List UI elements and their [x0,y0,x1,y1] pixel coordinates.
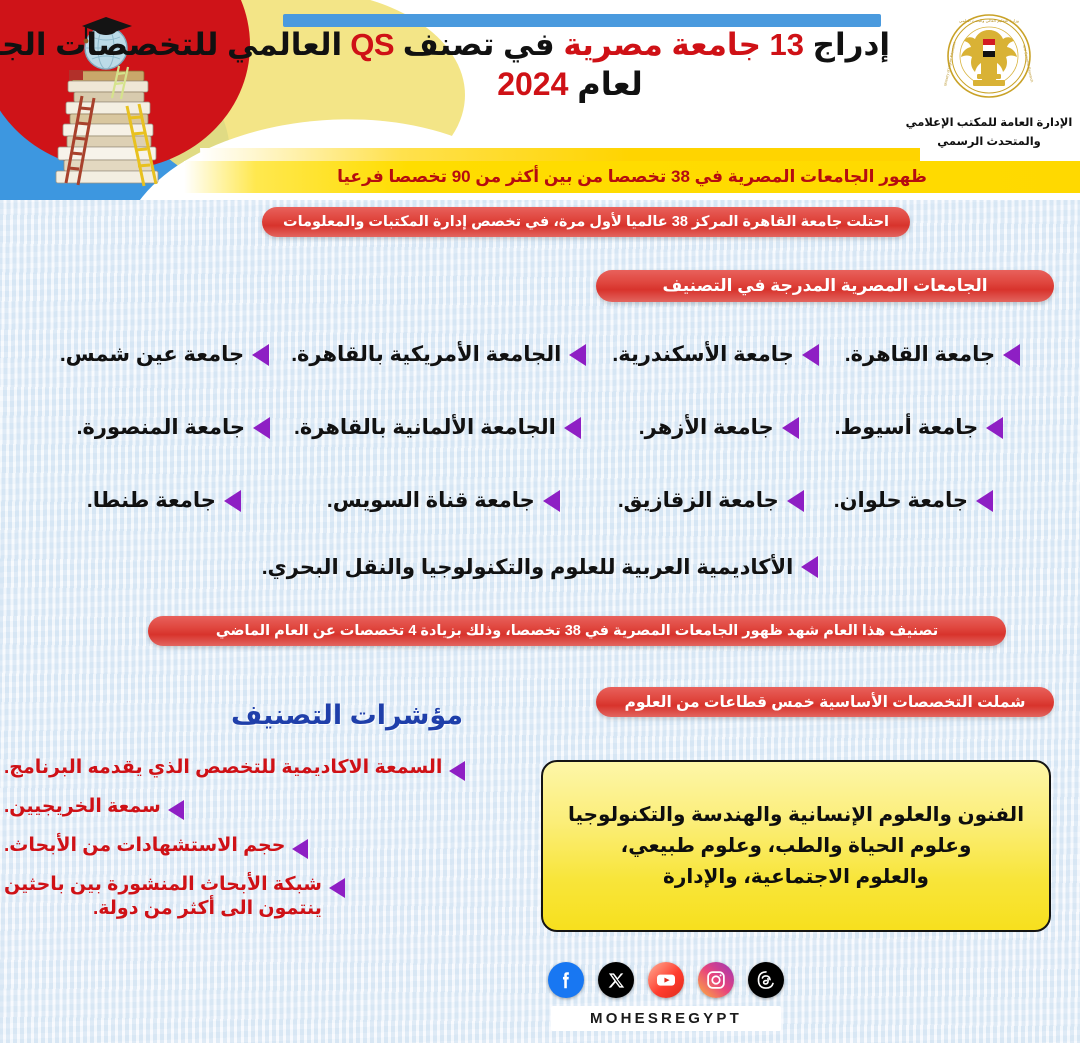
listed-universities-heading-text: الجامعات المصرية المدرجة في التصنيف [662,276,987,296]
triangle-bullet-icon [802,344,819,366]
university-name: جامعة الأزهر. [639,415,774,440]
subject-areas-line-2: وعلوم الحياة والطب، وعلوم طبيعي، [621,831,972,862]
university-name: جامعة أسيوط. [835,415,979,440]
triangle-bullet-icon [449,761,465,781]
list-item: جامعة عين شمس. [60,342,269,367]
social-handle-badge: MOHESREGYPT [551,1006,781,1031]
specialization-increase-pill: تصنيف هذا العام شهد ظهور الجامعات المصري… [148,616,1006,646]
triangle-bullet-icon [1003,344,1020,366]
infographic-canvas: إدراج 13 جامعة مصرية في تصنف QS العالمي … [0,0,1080,1043]
x-twitter-icon[interactable] [598,962,634,998]
title-qs-label: QS [350,27,394,62]
triangle-bullet-icon [986,417,1003,439]
yellow-highlight-banner: ظهور الجامعات المصرية في 38 تخصصا من بين… [184,161,1080,193]
subject-areas-box: الفنون والعلوم الإنسانية والهندسة والتكن… [541,760,1051,932]
triangle-bullet-icon [787,490,804,512]
university-row-3: جامعة حلوان. جامعة الزقازيق. جامعة قناة … [0,464,1080,537]
triangle-bullet-icon [976,490,993,512]
triangle-bullet-icon [224,490,241,512]
list-item: حجم الاستشهادات من الأبحاث. [0,834,308,859]
list-item: جامعة قناة السويس. [327,488,560,513]
university-name: جامعة القاهرة. [845,342,995,367]
ranking-indicators-list: السمعة الاكاديمية للتخصص الذي يقدمه البر… [0,756,530,936]
indicator-text: سمعة الخريجيين. [4,795,161,819]
instagram-icon[interactable] [698,962,734,998]
list-item: جامعة المنصورة. [77,415,270,440]
indicator-text: حجم الاستشهادات من الأبحاث. [4,834,285,858]
triangle-bullet-icon [329,878,345,898]
triangle-bullet-icon [801,556,818,578]
list-item: الأكاديمية العربية للعلوم والتكنولوجيا و… [262,555,819,580]
list-item: جامعة القاهرة. [845,342,1020,367]
title-rest: العالمي للتخصصات الجامعية [0,27,342,62]
university-row-1: جامعة القاهرة. جامعة الأسكندرية. الجامعة… [0,318,1080,391]
science-sectors-text: شملت التخصصات الأساسية خمس قطاعات من الع… [624,693,1025,712]
triangle-bullet-icon [292,839,308,859]
list-item: السمعة الاكاديمية للتخصص الذي يقدمه البر… [0,756,465,781]
university-name: جامعة المنصورة. [77,415,245,440]
facebook-icon[interactable] [548,962,584,998]
triangle-bullet-icon [564,417,581,439]
triangle-bullet-icon [569,344,586,366]
cairo-rank-text: احتلت جامعة القاهرة المركز 38 عالميا لأو… [283,214,889,230]
threads-icon[interactable] [748,962,784,998]
main-title-line-2: لعام 2024 [250,65,890,103]
university-name: الجامعة الألمانية بالقاهرة. [294,415,556,440]
title-word-liaam: لعام [577,66,643,102]
university-name: جامعة حلوان. [834,488,968,513]
triangle-bullet-icon [252,344,269,366]
logo-caption-line-2: والمتحدث الرسمي [905,135,1073,151]
list-item: الجامعة الأمريكية بالقاهرة. [291,342,586,367]
triangle-bullet-icon [168,800,184,820]
main-title-line-1: إدراج 13 جامعة مصرية في تصنف QS العالمي … [250,26,890,65]
egypt-eagle-emblem-icon: وزارة التعليم العالي والبحث العلمي Minis… [939,8,1039,108]
list-item: سمعة الخريجيين. [0,795,184,820]
logo-caption-line-1: الإدارة العامة للمكتب الإعلامي [905,116,1073,132]
university-name: الأكاديمية العربية للعلوم والتكنولوجيا و… [262,555,794,580]
triangle-bullet-icon [253,417,270,439]
subject-areas-line-3: والعلوم الاجتماعية، والإدارة [663,862,929,893]
listed-universities-heading-pill: الجامعات المصرية المدرجة في التصنيف [596,270,1054,302]
triangle-bullet-icon [543,490,560,512]
title-word-fi-tasnif: في تصنف [403,27,555,62]
triangle-bullet-icon [782,417,799,439]
list-item: الجامعة الألمانية بالقاهرة. [294,415,581,440]
title-year-2024: 2024 [497,66,568,102]
social-links-row [548,960,784,1000]
cairo-university-rank-pill: احتلت جامعة القاهرة المركز 38 عالميا لأو… [262,207,910,237]
list-item: جامعة طنطا. [87,488,241,513]
list-item: جامعة حلوان. [834,488,993,513]
subject-areas-line-1: الفنون والعلوم الإنسانية والهندسة والتكن… [568,800,1024,831]
specialization-increase-text: تصنيف هذا العام شهد ظهور الجامعات المصري… [216,623,938,639]
list-item: جامعة الأزهر. [639,415,799,440]
university-name: جامعة الأسكندرية. [612,342,793,367]
university-name: جامعة عين شمس. [60,342,244,367]
social-handle-text: MOHESREGYPT [590,1010,742,1027]
indicators-heading: مؤشرات التصنيف [152,700,542,731]
indicator-text: شبكة الأبحاث المنشورة بين باحثين ينتمون … [4,873,322,922]
list-item: شبكة الأبحاث المنشورة بين باحثين ينتمون … [0,873,345,922]
university-name: جامعة الزقازيق. [618,488,779,513]
science-sectors-pill: شملت التخصصات الأساسية خمس قطاعات من الع… [596,687,1054,717]
footer: MOHESREGYPT [0,960,1080,1043]
yellow-banner-text: ظهور الجامعات المصرية في 38 تخصصا من بين… [337,167,927,187]
title-word-idraj: إدراج [813,27,890,62]
youtube-icon[interactable] [648,962,684,998]
title-count-13-universities: 13 جامعة مصرية [563,27,804,62]
university-name: جامعة طنطا. [87,488,216,513]
list-item: جامعة أسيوط. [835,415,1004,440]
svg-text:وزارة التعليم العالي والبحث ال: وزارة التعليم العالي والبحث العلمي [959,18,1019,23]
list-item: جامعة الزقازيق. [618,488,804,513]
university-name: الجامعة الأمريكية بالقاهرة. [291,342,561,367]
list-item: جامعة الأسكندرية. [612,342,818,367]
main-title: إدراج 13 جامعة مصرية في تصنف QS العالمي … [250,26,890,156]
ministry-logo-block: وزارة التعليم العالي والبحث العلمي Minis… [905,8,1073,150]
university-list: جامعة القاهرة. جامعة الأسكندرية. الجامعة… [0,318,1080,597]
university-row-2: جامعة أسيوط. جامعة الأزهر. الجامعة الألم… [0,391,1080,464]
indicator-text: السمعة الاكاديمية للتخصص الذي يقدمه البر… [4,756,442,780]
university-row-4: الأكاديمية العربية للعلوم والتكنولوجيا و… [0,537,1080,597]
university-name: جامعة قناة السويس. [327,488,535,513]
